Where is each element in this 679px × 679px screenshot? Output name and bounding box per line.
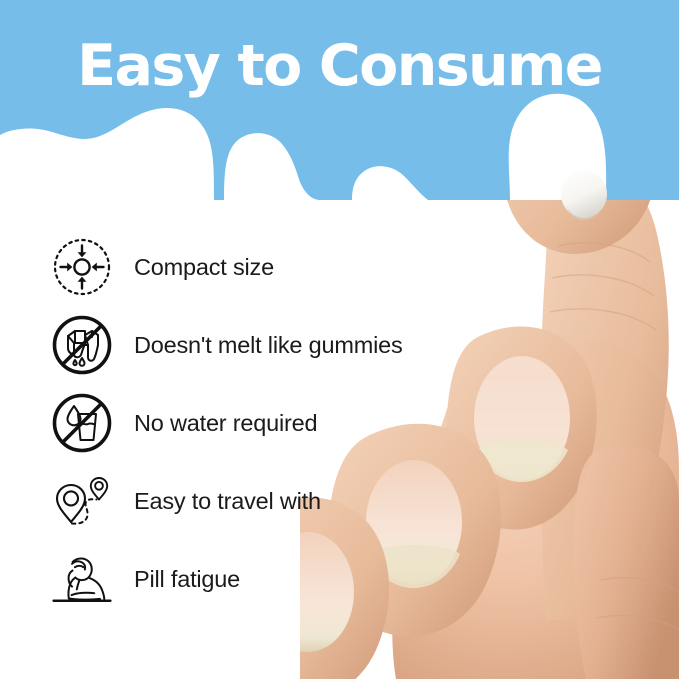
infographic-root: Easy to Consume bbox=[0, 0, 679, 679]
white-tablet bbox=[555, 168, 615, 230]
no-melt-icon bbox=[47, 310, 117, 380]
benefit-item-compact-size: Compact size bbox=[47, 228, 467, 306]
benefit-label-no-melt: Doesn't melt like gummies bbox=[134, 331, 403, 359]
pill-fatigue-icon bbox=[47, 544, 117, 614]
benefit-item-travel: Easy to travel with bbox=[47, 462, 467, 540]
benefit-list: Compact size bbox=[47, 228, 467, 618]
benefit-label-travel: Easy to travel with bbox=[134, 487, 321, 515]
benefit-item-pill-fatigue: Pill fatigue bbox=[47, 540, 467, 618]
travel-pin-route-icon bbox=[47, 466, 117, 536]
benefit-label-compact-size: Compact size bbox=[134, 253, 274, 281]
page-title: Easy to Consume bbox=[0, 33, 679, 99]
benefit-item-no-melt: Doesn't melt like gummies bbox=[47, 306, 467, 384]
benefit-label-pill-fatigue: Pill fatigue bbox=[134, 565, 240, 593]
benefit-label-no-water: No water required bbox=[134, 409, 317, 437]
no-water-icon bbox=[47, 388, 117, 458]
compact-size-icon bbox=[47, 232, 117, 302]
benefit-item-no-water: No water required bbox=[47, 384, 467, 462]
